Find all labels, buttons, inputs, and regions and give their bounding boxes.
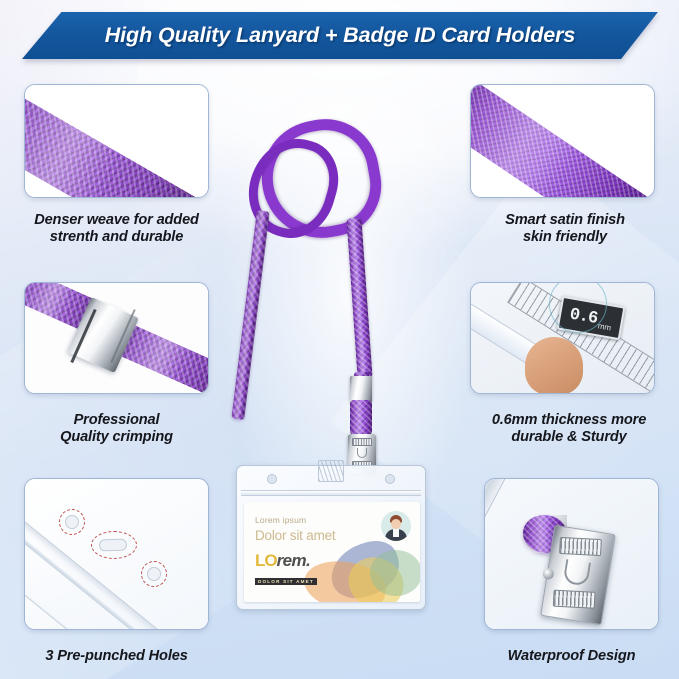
- annotation-circle-3: [141, 561, 167, 587]
- holder-slot-center: [318, 460, 344, 482]
- feature-card-quality-crimping: [24, 282, 209, 394]
- feature-caption-thickness: 0.6mm thickness more durable & Sturdy: [463, 412, 675, 446]
- clip-strap-ribbon: [485, 479, 508, 553]
- feature-card-pre-punched-holes: [24, 478, 209, 630]
- clip-u-slot: [357, 448, 367, 458]
- strap-highlight: [350, 400, 372, 438]
- card-line-small: Lorem ipsum: [255, 515, 306, 525]
- card-petal-green: [370, 550, 420, 596]
- card-line-large: Dolor sit amet: [255, 528, 335, 543]
- strap-highlight: [25, 85, 208, 197]
- id-card-insert: Lorem ipsum Dolor sit amet LOrem. DOLOR …: [244, 502, 420, 602]
- feature-caption-pre-punched-holes: 3 Pre-punched Holes: [14, 648, 219, 665]
- lanyard-fold-loop: [350, 400, 372, 438]
- feature-card-denser-weave: [24, 84, 209, 198]
- woven-strap: [25, 85, 208, 197]
- thumb: [525, 337, 583, 393]
- feature-caption-satin-finish: Smart satin finish skin friendly: [465, 212, 665, 246]
- bulldog-clip: [540, 525, 616, 626]
- feature-photo-pre-punched-holes: [25, 479, 208, 629]
- holder-hole-left: [267, 474, 277, 484]
- card-logo-secondary: rem.: [277, 551, 311, 570]
- vinyl-edge-strip: [25, 489, 208, 629]
- center-product-photo: Lorem ipsum Dolor sit amet LOrem. DOLOR …: [228, 100, 468, 620]
- holder-zip-seal: [241, 490, 421, 496]
- strap-highlight: [471, 85, 654, 197]
- id-card-holder: Lorem ipsum Dolor sit amet LOrem. DOLOR …: [236, 465, 426, 610]
- feature-photo-satin-finish: [471, 85, 654, 197]
- feature-card-waterproof: [484, 478, 659, 630]
- metal-crimp: [350, 376, 372, 402]
- feature-caption-waterproof: Waterproof Design: [474, 648, 669, 665]
- feature-card-satin-finish: [470, 84, 655, 198]
- card-logo-primary: LO: [255, 551, 277, 570]
- clip-ridges-bottom: [553, 590, 596, 609]
- feature-card-thickness: 0.6 mm: [470, 282, 655, 394]
- clip-ridges-top: [559, 537, 602, 556]
- feature-photo-thickness: 0.6 mm: [471, 283, 654, 393]
- card-logo-tagline: DOLOR SIT AMET: [255, 578, 317, 585]
- feature-caption-quality-crimping: Professional Quality crimping: [14, 412, 219, 446]
- avatar: [381, 511, 411, 541]
- title-banner: High Quality Lanyard + Badge ID Card Hol…: [22, 12, 658, 59]
- feature-photo-quality-crimping: [25, 283, 208, 393]
- card-logo: LOrem. DOLOR SIT AMET: [255, 552, 317, 588]
- clip-ridges-top: [352, 438, 372, 446]
- feature-photo-denser-weave: [25, 85, 208, 197]
- annotation-circle-1: [59, 509, 85, 535]
- satin-strap: [471, 85, 654, 197]
- title-banner-shape: High Quality Lanyard + Badge ID Card Hol…: [22, 12, 658, 59]
- feature-photo-waterproof: [485, 479, 658, 629]
- holder-hole-right: [385, 474, 395, 484]
- feature-caption-denser-weave: Denser weave for added strenth and durab…: [14, 212, 219, 246]
- page-title: High Quality Lanyard + Badge ID Card Hol…: [105, 23, 576, 48]
- annotation-circle-2: [91, 531, 137, 559]
- infographic-canvas: High Quality Lanyard + Badge ID Card Hol…: [0, 0, 679, 679]
